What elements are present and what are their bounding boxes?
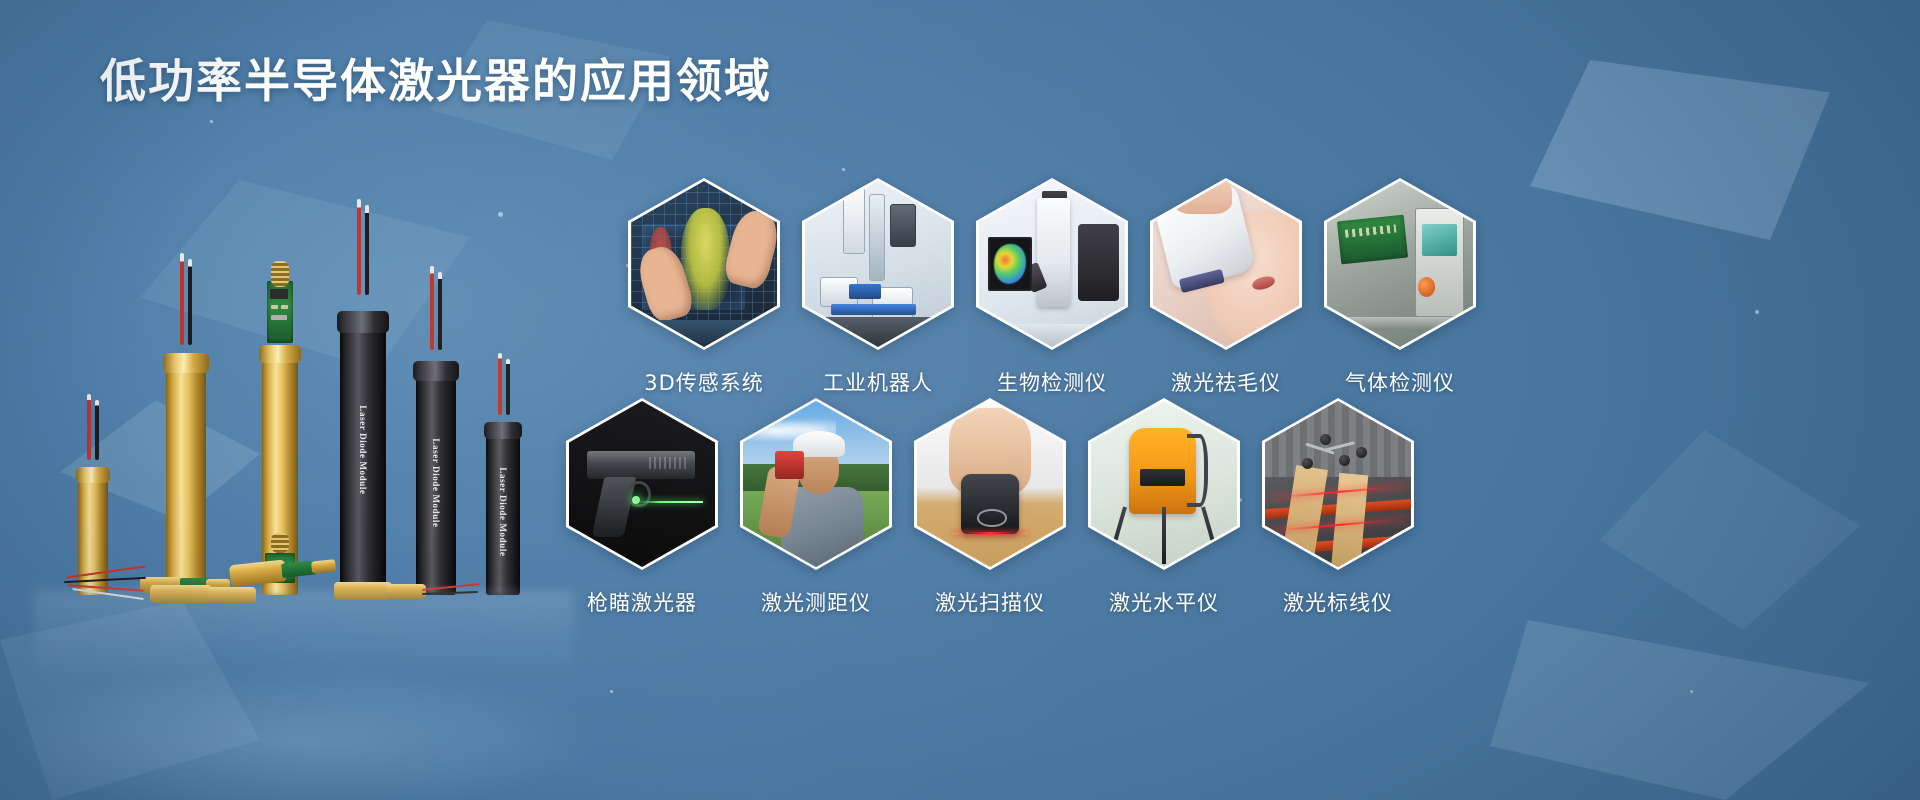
application-label-gas-detector: 气体检测仪 [1345, 367, 1455, 397]
hexagon-frame-bio-detector[interactable] [976, 178, 1128, 350]
background-polygon-5 [1490, 620, 1870, 800]
laser-product-group: Laser Diode Module Laser Diode Module La… [34, 175, 574, 595]
product-black-laser-diode-module-medium: Laser Diode Module [416, 350, 456, 595]
application-item-industrial-robot[interactable]: 工业机器人 [802, 178, 954, 397]
application-label-3d-sensing: 3D传感系统 [644, 367, 764, 397]
application-label-laser-scanner: 激光扫描仪 [935, 587, 1045, 617]
application-label-laser-line-marker: 激光标线仪 [1283, 587, 1393, 617]
scene-laser-rangefinder [743, 401, 889, 567]
application-row-2: 枪瞄激光器 激光测距仪 [566, 398, 1414, 617]
hexagon-frame-industrial-robot[interactable] [802, 178, 954, 350]
scene-laser-scanner [917, 401, 1063, 567]
hexagon-frame-gas-detector[interactable] [1324, 178, 1476, 350]
scene-laser-hair-removal [1153, 181, 1299, 347]
application-item-gas-detector[interactable]: 气体检测仪 [1324, 178, 1476, 397]
module-label-3: Laser Diode Module [498, 467, 508, 556]
hexagon-frame-3d-sensing[interactable] [628, 178, 780, 350]
application-label-gun-sight-laser: 枪瞄激光器 [587, 587, 697, 617]
sparkle-9 [842, 168, 845, 171]
application-row-1: 3D传感系统 工业机器人 [628, 178, 1476, 397]
product-brass-laser-module-with-pcb [262, 285, 298, 595]
background-polygon-6 [0, 600, 260, 800]
hexagon-frame-laser-hair-removal[interactable] [1150, 178, 1302, 350]
background-polygon-3 [1530, 60, 1830, 240]
hexagon-frame-laser-rangefinder[interactable] [740, 398, 892, 570]
scene-gun-sight-laser [569, 401, 715, 567]
scene-laser-level [1091, 401, 1237, 567]
application-item-bio-detector[interactable]: 生物检测仪 [976, 178, 1128, 397]
application-banner: 低功率半导体激光器的应用领域 [0, 0, 1920, 800]
application-item-laser-level[interactable]: 激光水平仪 [1088, 398, 1240, 617]
scene-bio-detector [979, 181, 1125, 347]
spring-coil-icon-lower [271, 533, 289, 553]
application-item-gun-sight-laser[interactable]: 枪瞄激光器 [566, 398, 718, 617]
application-item-laser-rangefinder[interactable]: 激光测距仪 [740, 398, 892, 617]
application-item-laser-line-marker[interactable]: 激光标线仪 [1262, 398, 1414, 617]
module-label-2: Laser Diode Module [431, 438, 441, 527]
sparkle-6 [1755, 310, 1759, 314]
application-item-laser-hair-removal[interactable]: 激光祛毛仪 [1150, 178, 1302, 397]
page-title: 低功率半导体激光器的应用领域 [100, 56, 772, 107]
product-reflection [34, 590, 574, 680]
application-label-laser-level: 激光水平仪 [1109, 587, 1219, 617]
application-label-industrial-robot: 工业机器人 [823, 367, 933, 397]
application-label-bio-detector: 生物检测仪 [997, 367, 1107, 397]
hexagon-frame-gun-sight-laser[interactable] [566, 398, 718, 570]
hexagon-frame-laser-scanner[interactable] [914, 398, 1066, 570]
hexagon-frame-laser-level[interactable] [1088, 398, 1240, 570]
sparkle-7 [1690, 690, 1693, 693]
product-brass-laser-module-medium [166, 345, 206, 595]
application-label-laser-hair-removal: 激光祛毛仪 [1171, 367, 1281, 397]
application-item-laser-scanner[interactable]: 激光扫描仪 [914, 398, 1066, 617]
background-polygon-4 [1600, 430, 1860, 630]
scene-gas-detector [1327, 181, 1473, 347]
spring-coil-icon [271, 261, 289, 287]
sparkle-8 [210, 120, 213, 123]
floor-glow [0, 590, 780, 800]
pcb-board-icon [267, 281, 293, 343]
application-item-3d-sensing[interactable]: 3D传感系统 [628, 178, 780, 397]
scene-industrial-robot [805, 181, 951, 347]
sparkle-5 [610, 690, 613, 693]
product-black-laser-diode-module-small: Laser Diode Module [486, 415, 520, 595]
module-label: Laser Diode Module [358, 405, 368, 494]
application-label-laser-rangefinder: 激光测距仪 [761, 587, 871, 617]
hexagon-frame-laser-line-marker[interactable] [1262, 398, 1414, 570]
product-brass-diode-with-red-lead [334, 577, 484, 607]
scene-3d-sensing [631, 181, 777, 347]
scene-laser-line-marker [1265, 401, 1411, 567]
